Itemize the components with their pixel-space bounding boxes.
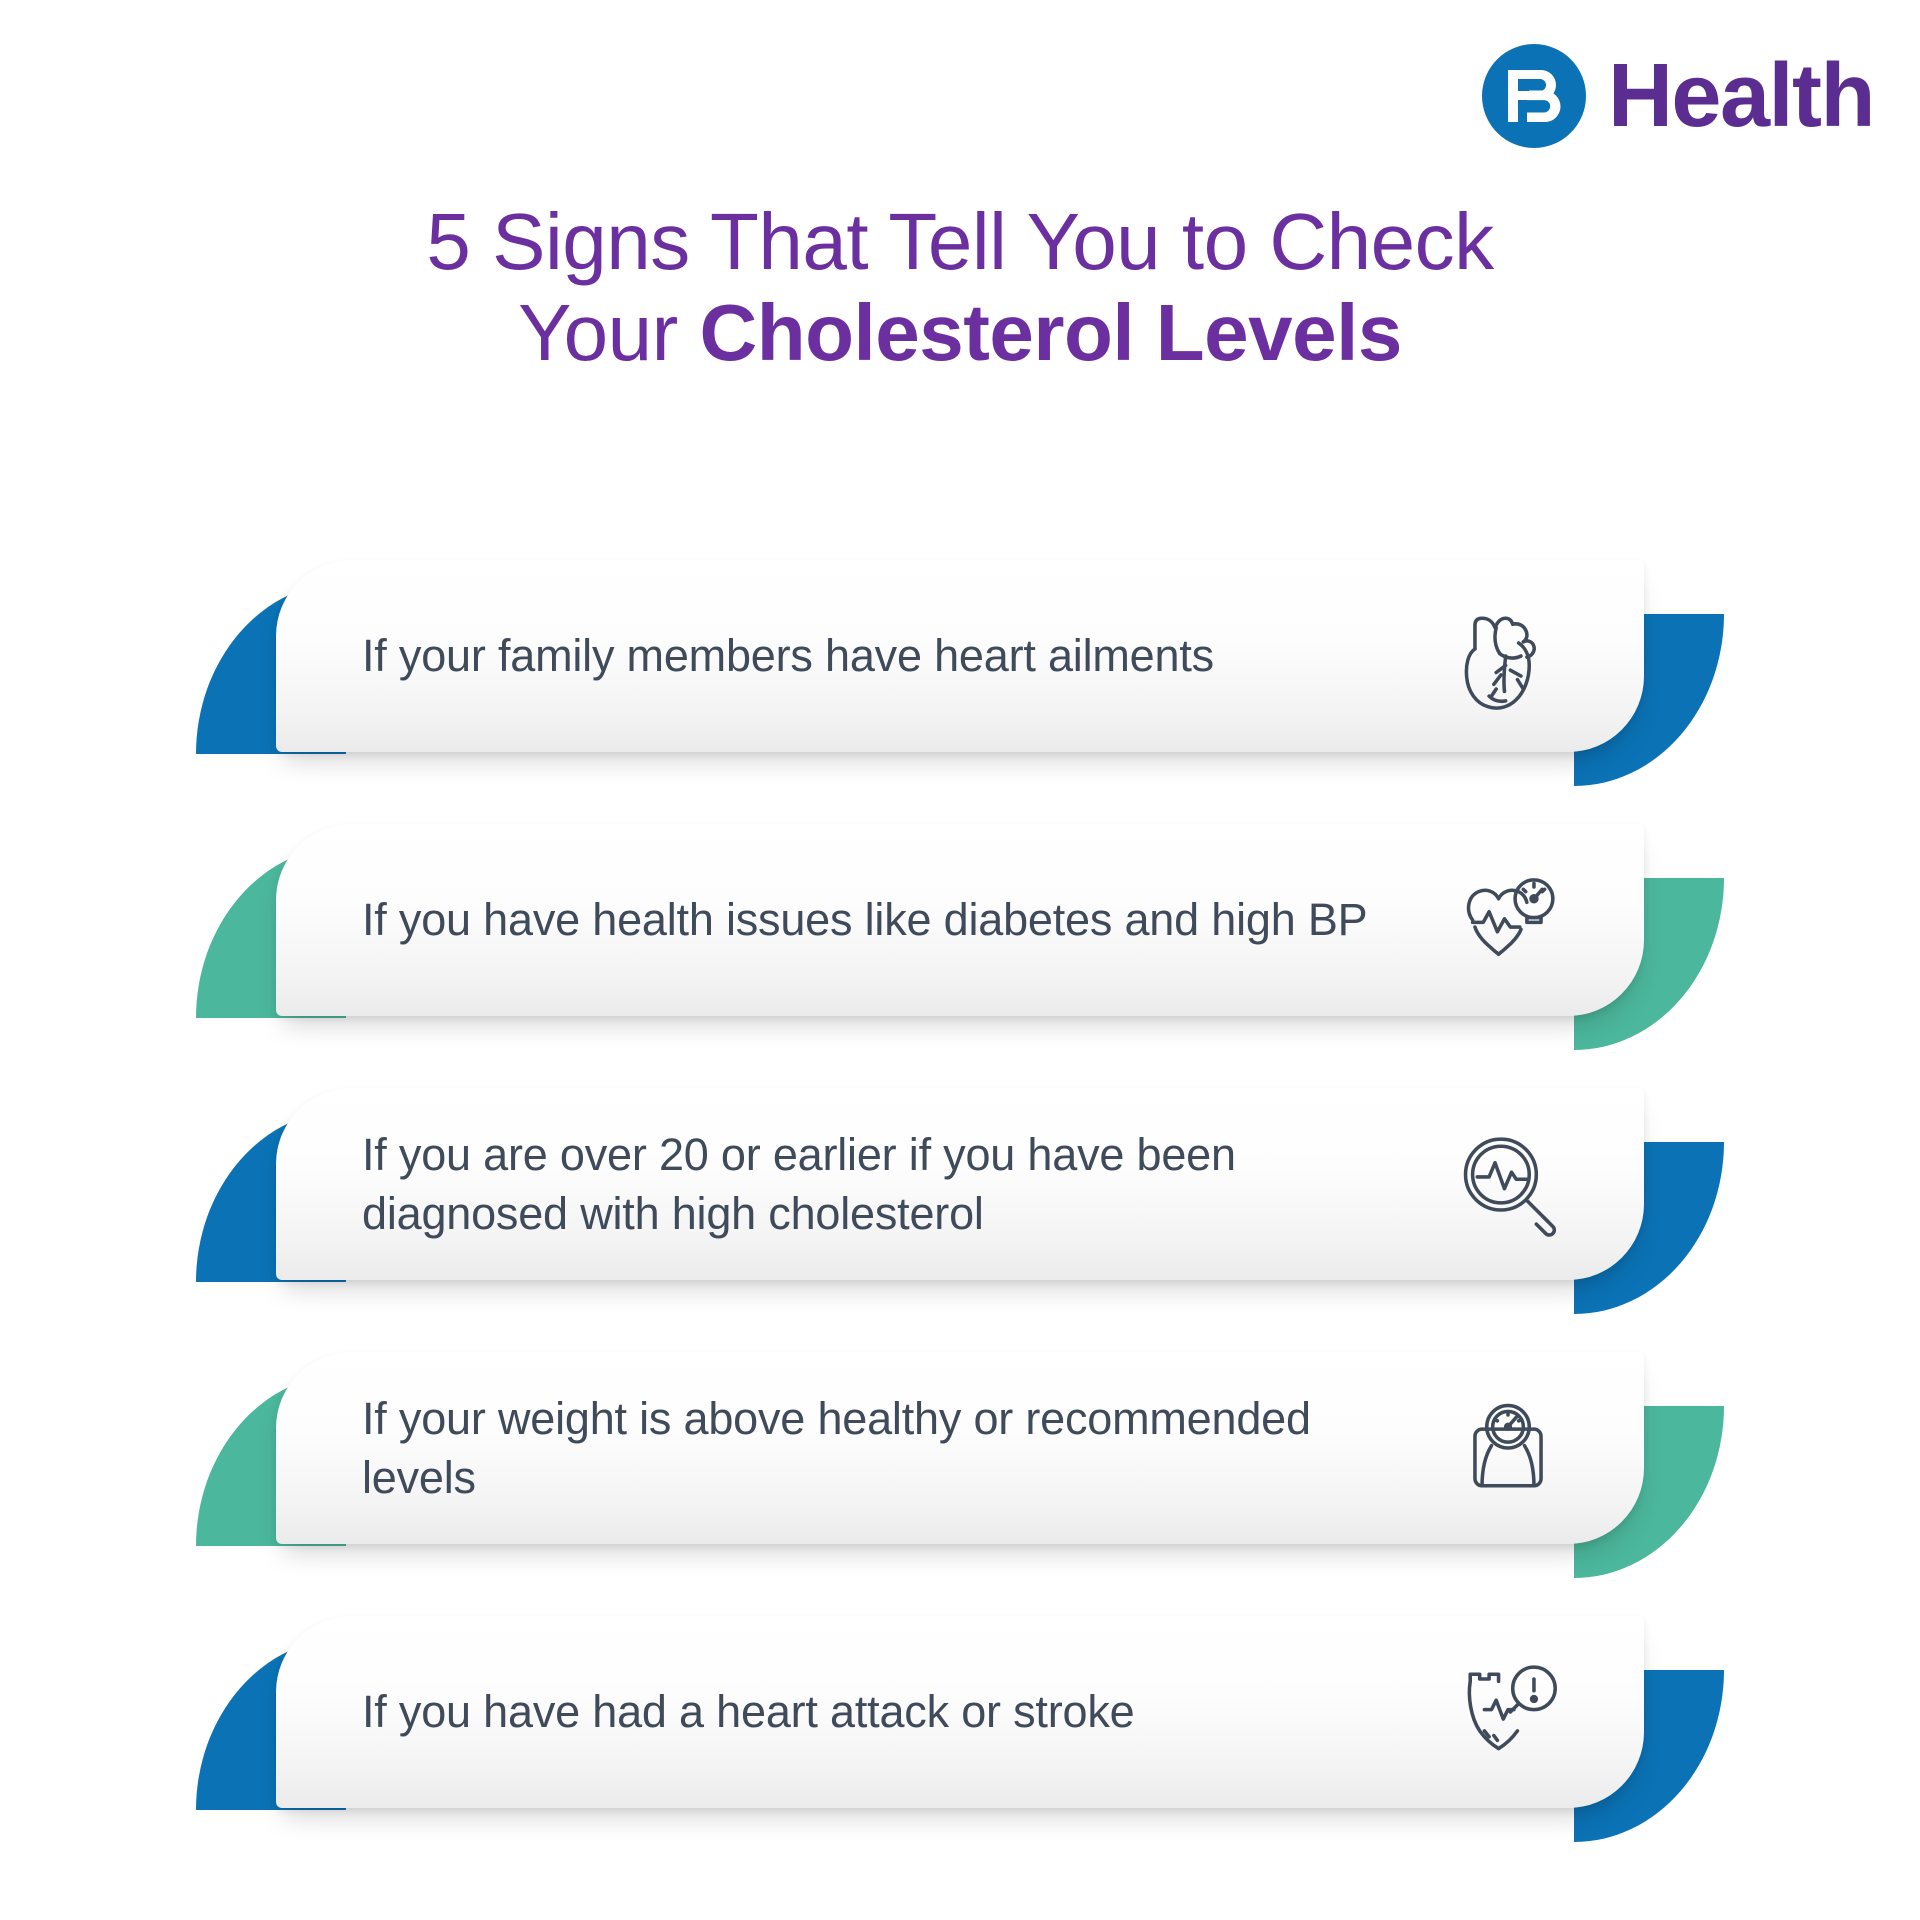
- bajaj-b-monogram-icon: [1482, 44, 1586, 148]
- pulse-magnifier-icon: [1438, 1114, 1578, 1254]
- brand-header: Health: [1482, 44, 1874, 148]
- list-item: If your family members have heart ailmen…: [0, 560, 1920, 824]
- brand-wordmark: Health: [1608, 51, 1874, 141]
- sign-card-4-text: If your weight is above healthy or recom…: [362, 1389, 1438, 1508]
- list-item: If you have health issues like diabetes …: [0, 824, 1920, 1088]
- anatomical-heart-icon: [1438, 586, 1578, 726]
- sign-card-3[interactable]: If you are over 20 or earlier if you hav…: [276, 1088, 1644, 1280]
- page-title: 5 Signs That Tell You to Check Your Chol…: [0, 196, 1920, 378]
- list-item: If your weight is above healthy or recom…: [0, 1352, 1920, 1616]
- list-item: If you are over 20 or earlier if you hav…: [0, 1088, 1920, 1352]
- title-line-2: Your Cholesterol Levels: [0, 287, 1920, 378]
- sign-card-4[interactable]: If your weight is above healthy or recom…: [276, 1352, 1644, 1544]
- sign-card-5[interactable]: If you have had a heart attack or stroke: [276, 1616, 1644, 1808]
- weighing-scale-icon: [1438, 1378, 1578, 1518]
- sign-card-1-text: If your family members have heart ailmen…: [362, 626, 1438, 685]
- sign-card-5-text: If you have had a heart attack or stroke: [362, 1682, 1438, 1741]
- sign-card-2[interactable]: If you have health issues like diabetes …: [276, 824, 1644, 1016]
- title-line-1: 5 Signs That Tell You to Check: [0, 196, 1920, 287]
- heart-shield-alert-icon: [1438, 1642, 1578, 1782]
- title-line-2-prefix: Your: [518, 288, 699, 377]
- sign-card-3-text: If you are over 20 or earlier if you hav…: [362, 1125, 1438, 1244]
- list-item: If you have had a heart attack or stroke: [0, 1616, 1920, 1880]
- title-line-2-strong: Cholesterol Levels: [700, 288, 1402, 377]
- heart-pulse-gauge-icon: [1438, 850, 1578, 990]
- sign-card-1[interactable]: If your family members have heart ailmen…: [276, 560, 1644, 752]
- signs-list: If your family members have heart ailmen…: [0, 560, 1920, 1880]
- sign-card-2-text: If you have health issues like diabetes …: [362, 890, 1438, 949]
